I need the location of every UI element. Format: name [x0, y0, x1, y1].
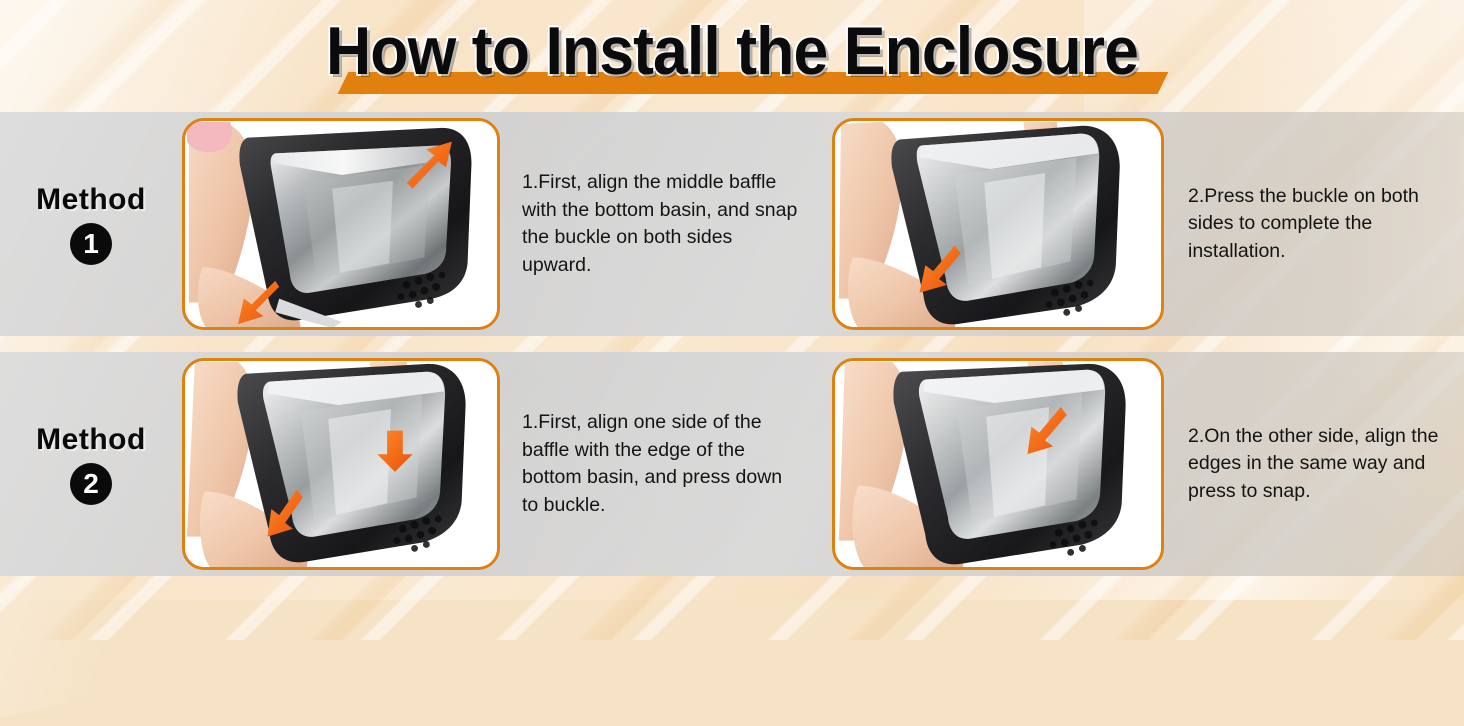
method-word-2: Method: [0, 423, 182, 457]
photo-card-method1-step1[interactable]: [182, 118, 500, 330]
method-number-badge-2: 2: [70, 463, 112, 505]
method-row-2: Method 2: [0, 352, 1464, 576]
footer-strip: [0, 576, 1464, 600]
step-text-method2-step2: 2.On the other side, align the edges in …: [1164, 423, 1464, 506]
method-row-1: Method 1: [0, 112, 1464, 336]
photo-card-method2-step2[interactable]: [832, 358, 1164, 570]
page-title: How to Install the Enclosure: [59, 16, 1406, 86]
method-number-badge-1: 1: [70, 223, 112, 265]
step-text-method1-step1: 1.First, align the middle baffle with th…: [500, 169, 818, 279]
product-photo-3: [185, 361, 497, 567]
product-photo-1: [185, 121, 497, 327]
photo-card-method2-step1[interactable]: [182, 358, 500, 570]
product-photo-2: [835, 121, 1161, 327]
method-word-1: Method: [0, 183, 182, 217]
page-header: How to Install the Enclosure: [0, 0, 1464, 112]
step-text-method1-step2: 2.Press the buckle on both sides to comp…: [1164, 183, 1464, 266]
step-text-method2-step1: 1.First, align one side of the baffle wi…: [500, 409, 818, 519]
method-label-1: Method 1: [0, 183, 182, 265]
photo-card-method1-step2[interactable]: [832, 118, 1164, 330]
product-photo-4: [835, 361, 1161, 567]
method-label-2: Method 2: [0, 423, 182, 505]
